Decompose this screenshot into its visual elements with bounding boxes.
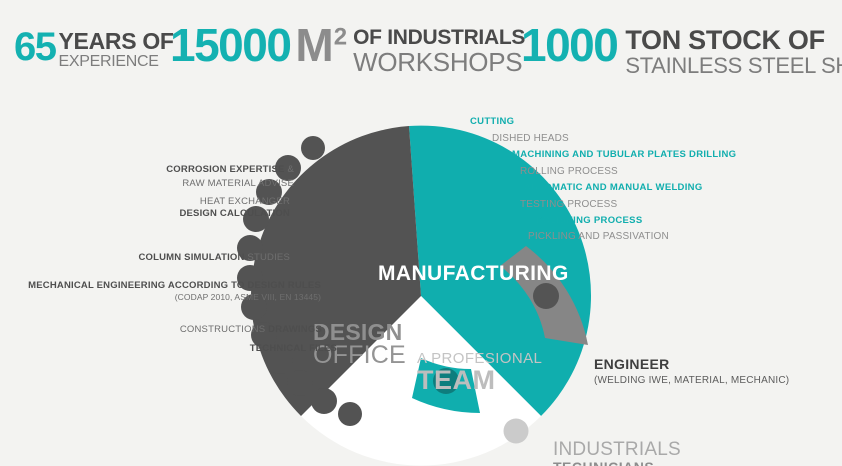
stat-unit-letter: M [295, 19, 333, 71]
stat-unit-superscript: 2 [334, 24, 347, 51]
callout-normal-text: CONSTRUCTIONS [180, 324, 268, 335]
stat-steel-stock: 1000 TON STOCK OF STAINLESS STEEL SHEETS [521, 24, 842, 77]
process-item-polishing: POLISHING PROCESS [536, 215, 642, 226]
infographic-root: 65 YEARS OF EXPERIENCE 15000 M2 OF INDUS… [0, 0, 842, 466]
callout-bold-text: COLUMN SIMULATION [138, 252, 244, 263]
stat-line2: EXPERIENCE [59, 54, 174, 70]
callout-line1: TECHNICAL FILES [250, 343, 337, 355]
stat-text-block: OF INDUSTRIALS WORKSHOPS [353, 27, 525, 75]
process-item-welding: AUTOMATIC AND MANUAL WELDING [524, 182, 703, 193]
callout-line1: CONSTRUCTIONS DRAWINGS [180, 318, 322, 338]
stat-line1: YEARS OF [59, 30, 174, 53]
callout-normal-text: STUDIES [245, 252, 290, 263]
callout-line2: RAW MATERIAL ADVISE [166, 178, 294, 190]
callout-constructions-drawings: CONSTRUCTIONS DRAWINGS [180, 318, 322, 338]
process-item-testing: TESTING PROCESS [520, 199, 617, 210]
engineer-subtitle: (WELDING IWE, MATERIAL, MECHANIC) [594, 375, 789, 388]
technicians-dot [504, 419, 529, 444]
callout-mechanical-engineering: MECHANICAL ENGINEERING ACCORDING TO DESI… [28, 280, 321, 303]
stat-number: 1000 [521, 24, 617, 68]
stat-workshop-area: 15000 M2 OF INDUSTRIALS WORKSHOPS [170, 24, 525, 75]
label-team-line2: TEAM [417, 367, 542, 394]
callout-corrosion-expertise: CORROSION EXPERTISE & RAW MATERIAL ADVIS… [166, 158, 294, 190]
stat-number: 65 [14, 28, 56, 66]
stat-number: 15000 [170, 24, 290, 68]
stat-text-block: TON STOCK OF STAINLESS STEEL SHEETS [625, 27, 842, 77]
label-industrials-line2: TECHNICIANS [553, 460, 681, 466]
stat-years-experience: 65 YEARS OF EXPERIENCE [14, 28, 174, 70]
callout-line2: (CODAP 2010, ASME VIII, EN 13445) [28, 292, 321, 303]
stat-line1: TON STOCK OF [625, 27, 842, 54]
callout-heat-exchanger: HEAT EXCHANGER DESIGN CALCULATION [179, 196, 290, 220]
callout-line2: DESIGN CALCULATION [179, 208, 290, 220]
label-team-line1: A PROFESIONAL [417, 351, 542, 366]
process-item-pickling: PICKLING AND PASSIVATION [528, 231, 669, 242]
callout-line1: COLUMN SIMULATION STUDIES [138, 246, 290, 266]
process-item-dished-heads: DISHED HEADS [492, 133, 569, 144]
callout-line1: HEAT EXCHANGER [179, 196, 290, 208]
callout-normal-text: & [285, 164, 294, 175]
stat-text-block: YEARS OF EXPERIENCE [59, 30, 174, 70]
stats-band: 65 YEARS OF EXPERIENCE 15000 M2 OF INDUS… [0, 0, 842, 100]
label-industrials-line1: INDUSTRIALS [553, 440, 681, 459]
label-industrials-technicians: INDUSTRIALS TECHNICIANS [553, 440, 681, 466]
label-manufacturing: MANUFACTURING [378, 262, 569, 286]
callout-bold-text: DRAWINGS [268, 324, 322, 335]
process-item-rolling: ROLLING PROCESS [520, 166, 618, 177]
process-item-cutting: CUTTING [470, 116, 514, 127]
engineer-title: ENGINEER [594, 356, 789, 374]
stat-line2: STAINLESS STEEL SHEETS [625, 55, 842, 77]
callout-line1: MECHANICAL ENGINEERING ACCORDING TO DESI… [28, 280, 321, 292]
stat-line2: WORKSHOPS [353, 49, 525, 75]
engineer-dot [533, 283, 559, 309]
callout-line1: CORROSION EXPERTISE & [166, 158, 294, 178]
capability-wheel: MANUFACTURING DESIGN OFFICE A PROFESIONA… [0, 100, 842, 466]
process-item-machining: MACHINING AND TUBULAR PLATES DRILLING [512, 149, 736, 160]
label-professional-team: A PROFESIONAL TEAM [417, 351, 542, 394]
callout-column-simulation: COLUMN SIMULATION STUDIES [138, 246, 290, 266]
callout-technical-files: TECHNICAL FILES [250, 343, 337, 355]
stat-line1: OF INDUSTRIALS [353, 27, 525, 48]
callout-bold-text: CORROSION EXPERTISE [166, 164, 284, 175]
callout-engineer: ENGINEER (WELDING IWE, MATERIAL, MECHANI… [594, 356, 789, 387]
stat-unit: M2 [295, 24, 347, 68]
